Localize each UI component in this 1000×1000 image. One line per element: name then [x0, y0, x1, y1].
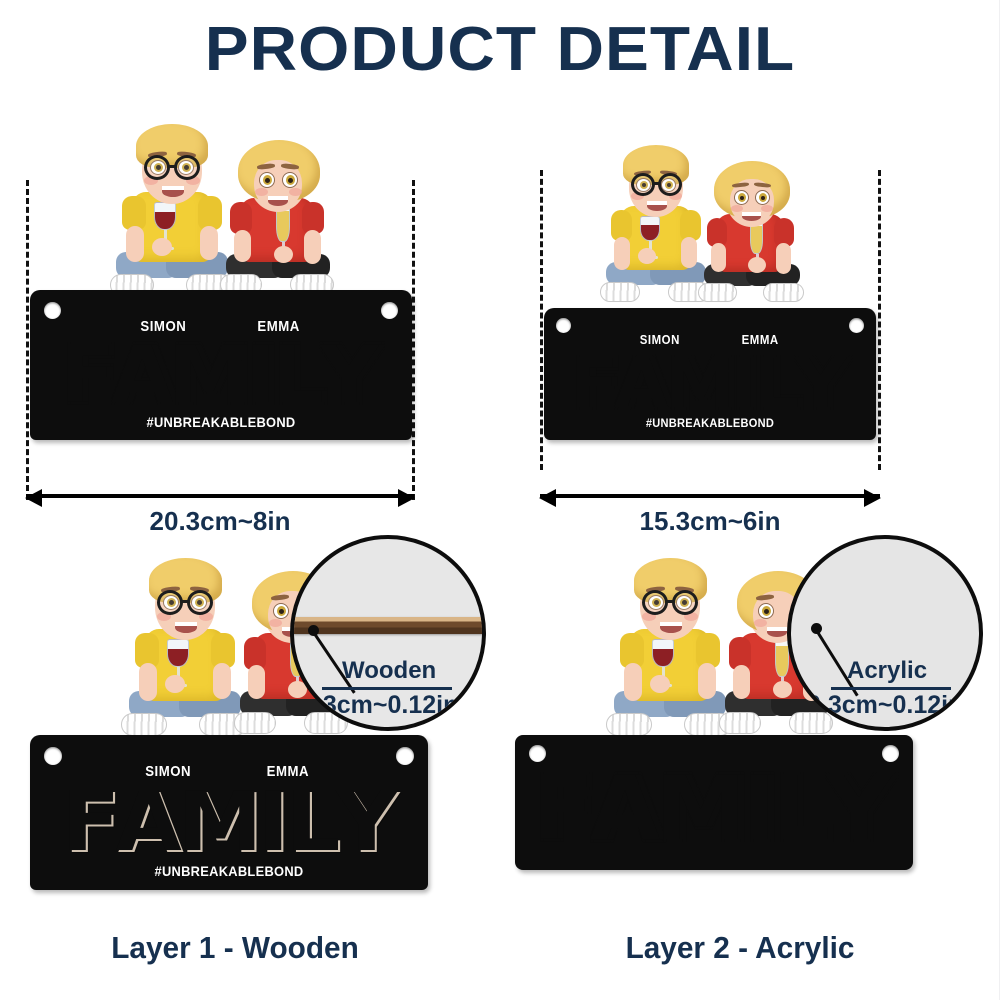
man-wine-bowl: [640, 216, 660, 241]
man-arm-left: [139, 663, 157, 701]
thickness-callout-acrylic: Acrylic 0.3cm~0.12in: [787, 535, 983, 731]
glasses-lens-left: [642, 590, 668, 615]
woman-pupil-right: [761, 196, 765, 200]
man-arm-left: [126, 226, 144, 262]
woman-mouth: [767, 627, 787, 637]
woman-pupil-left: [740, 196, 744, 200]
callout-divider: [831, 687, 951, 690]
product-detail-page: PRODUCT DETAIL 20.3cm~8in: [0, 0, 1000, 1000]
family-letter-m: M: [658, 771, 747, 847]
man-arm-right: [200, 226, 218, 260]
hang-hole-right: [849, 318, 864, 333]
dimension-arrow-horizontal: [26, 494, 414, 498]
glasses-bridge: [182, 600, 189, 603]
product-layer-1-wooden: SIMON EMMA F A M I L Y #UNBREAKABLEBOND …: [0, 545, 470, 1000]
layer-caption: Layer 1 - Wooden: [9, 930, 460, 966]
hashtag-text: #UNBREAKABLEBOND: [45, 414, 396, 430]
family-letter-l: L: [275, 343, 325, 410]
man-hand: [165, 675, 185, 693]
woman-teeth: [767, 627, 787, 631]
family-letter-f: F: [63, 343, 116, 410]
man-arm-left: [624, 663, 642, 701]
hang-hole-right: [396, 747, 414, 765]
family-letter-m: M: [172, 343, 251, 410]
man-teeth: [175, 622, 197, 626]
woman-mouth: [268, 196, 288, 206]
page-title: PRODUCT DETAIL: [0, 14, 1000, 85]
glasses-lens-right: [672, 590, 698, 615]
man-hand: [650, 675, 670, 693]
layer-caption: Layer 2 - Acrylic: [514, 930, 965, 966]
man-shoe-left: [600, 282, 640, 302]
woman-hand: [773, 681, 792, 698]
family-letter-i: I: [258, 788, 288, 859]
figure-woman: [700, 158, 804, 324]
thickness-callout-wooden: Wooden 0.3cm~0.12in: [290, 535, 486, 731]
family-letter-y: Y: [829, 771, 893, 847]
family-word: F A M I L Y: [42, 332, 400, 410]
man-teeth: [647, 201, 667, 205]
glasses-bridge: [169, 165, 176, 168]
glasses-lens-right: [658, 173, 682, 196]
family-word: F A M I L Y: [554, 344, 866, 414]
woman-shoe-right: [763, 283, 804, 302]
woman-pupil-left: [279, 609, 284, 614]
man-teeth: [162, 186, 184, 190]
product-layer-2-acrylic: F A M I L Y Acrylic 0.3cm~0.12in Layer 2…: [505, 545, 975, 1000]
hang-hole-left: [556, 318, 571, 333]
product-size-large: 20.3cm~8in: [0, 110, 460, 530]
family-letter-f: F: [535, 771, 595, 847]
woman-shoe-left: [719, 712, 761, 734]
sign-plaque-small: SIMON EMMA F A M I L Y #UNBREAKABLEBOND: [544, 308, 876, 440]
glasses-lens-left: [157, 590, 183, 615]
figure-woman: [222, 136, 334, 316]
woman-arm-right: [304, 230, 321, 264]
family-word: F A M I L Y: [42, 777, 416, 859]
dimension-label: 15.3cm~6in: [540, 506, 880, 537]
family-letter-f: F: [62, 788, 118, 859]
family-letter-f: F: [573, 356, 619, 414]
family-letter-y: Y: [798, 356, 847, 414]
woman-teeth: [742, 212, 761, 216]
woman-hand: [748, 257, 766, 273]
woman-pupil-left: [265, 178, 270, 183]
woman-cheek-right: [289, 188, 302, 196]
measure-guide-left: [540, 170, 543, 470]
glasses-lens-right: [174, 155, 200, 180]
sign-plaque-large: SIMON EMMA F A M I L Y #UNBREAKABLEBOND: [30, 290, 412, 440]
glasses-lens-left: [631, 173, 655, 196]
family-letter-a: A: [593, 771, 662, 847]
family-letter-y: Y: [336, 788, 396, 859]
sign-plaque-wooden: SIMON EMMA F A M I L Y #UNBREAKABLEBOND: [30, 735, 428, 890]
hashtag-text: #UNBREAKABLEBOND: [557, 416, 862, 430]
woman-arm-left: [733, 665, 750, 699]
family-letter-y: Y: [323, 343, 380, 410]
man-shoe-left: [606, 713, 652, 736]
woman-arm-right: [776, 243, 791, 274]
glasses-bridge: [653, 182, 660, 185]
man-wine-bowl: [154, 202, 176, 230]
family-word: F A M I L Y: [527, 757, 901, 847]
callout-material-label: Acrylic: [847, 657, 927, 685]
woman-cheek-left: [731, 205, 743, 212]
woman-shoe-left: [234, 712, 276, 734]
woman-shoe-left: [698, 283, 737, 302]
figure-man: [125, 553, 245, 753]
man-arm-left: [614, 237, 630, 270]
woman-arm-left: [248, 665, 265, 699]
dimension-label: 20.3cm~8in: [26, 506, 414, 537]
woman-cheek-right: [761, 205, 773, 212]
family-letter-a: A: [617, 356, 670, 414]
measure-guide-left: [26, 180, 29, 500]
man-wine-bowl: [652, 639, 674, 667]
hang-hole-left: [44, 302, 61, 319]
family-letter-a: A: [116, 788, 180, 859]
woman-teeth: [268, 196, 288, 200]
callout-divider: [322, 687, 452, 690]
man-wine-bowl: [167, 639, 189, 667]
man-mouth: [647, 201, 667, 211]
woman-cheek-left: [269, 619, 282, 627]
woman-hand: [274, 246, 293, 263]
hang-hole-left: [44, 747, 62, 765]
hang-hole-right: [381, 302, 398, 319]
callout-thickness-label: 0.3cm~0.12in: [807, 691, 963, 720]
glasses-lens-left: [144, 155, 170, 180]
man-teeth: [660, 622, 682, 626]
family-letter-l: L: [757, 356, 800, 414]
man-sleeve-left: [122, 196, 146, 230]
family-letter-a: A: [114, 343, 175, 410]
dimension-arrow-horizontal: [540, 494, 880, 498]
measure-guide-right: [412, 180, 415, 500]
man-mouth: [175, 622, 197, 633]
measure-guide-right: [878, 170, 881, 470]
man-arm-right: [213, 663, 231, 699]
family-letter-m: M: [667, 356, 735, 414]
woman-cheek-left: [255, 188, 268, 196]
woman-pupil-right: [288, 178, 293, 183]
woman-mouth: [742, 212, 761, 221]
man-shoe-left: [121, 713, 167, 736]
man-hand: [638, 248, 656, 264]
figure-man: [112, 118, 232, 313]
sign-plaque-acrylic: F A M I L Y: [515, 735, 913, 870]
man-mouth: [162, 186, 184, 197]
family-letter-i: I: [745, 771, 777, 847]
figure-man: [610, 553, 730, 753]
callout-thickness-label: 0.3cm~0.12in: [302, 691, 458, 720]
man-arm-right: [698, 663, 716, 699]
family-letter-l: L: [775, 771, 831, 847]
woman-arm-left: [711, 243, 726, 272]
woman-cheek-left: [754, 619, 767, 627]
man-hand: [152, 238, 172, 256]
family-letter-l: L: [286, 788, 338, 859]
man-arm-right: [681, 237, 697, 268]
callout-material-label: Wooden: [342, 657, 436, 685]
wood-edge-swatch: [290, 617, 486, 634]
man-mouth: [660, 622, 682, 633]
glasses-lens-right: [187, 590, 213, 615]
hashtag-text: #UNBREAKABLEBOND: [46, 863, 412, 879]
glasses-bridge: [667, 600, 674, 603]
woman-arm-left: [234, 230, 251, 262]
family-letter-i: I: [248, 343, 276, 410]
figure-man: [602, 140, 710, 318]
family-letter-i: I: [734, 356, 758, 414]
woman-pupil-left: [764, 609, 769, 614]
product-size-small: 15.3cm~6in: [520, 140, 940, 530]
family-letter-m: M: [177, 788, 260, 859]
man-sleeve-right: [198, 196, 222, 230]
